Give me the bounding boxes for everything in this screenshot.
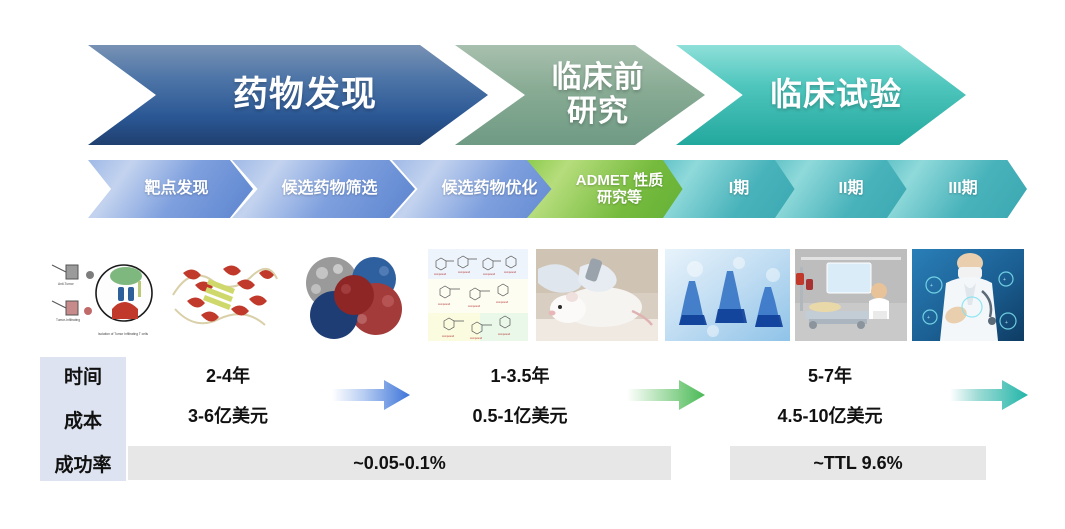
metric-time-clinical: 5-7年 <box>730 360 930 390</box>
stage-chip-label: II期 <box>839 180 864 198</box>
svg-text:Isolation of Tumor Infiltratin: Isolation of Tumor Infiltrating T cells <box>98 332 148 336</box>
stage-chip-label: 靶点发现 <box>144 180 208 198</box>
metric-cost-clinical: 4.5-10亿美元 <box>730 400 930 430</box>
stage-chip-phase-iii[interactable]: III期 <box>887 160 1027 218</box>
svg-text:compound: compound <box>434 272 447 276</box>
phase-arrow-clinical-trials[interactable]: 临床试验 <box>676 45 966 145</box>
svg-text:compound: compound <box>438 302 451 306</box>
image-lab-flasks-photo <box>665 249 790 341</box>
stage-chip-label: 候选药物筛选 <box>281 180 377 198</box>
svg-text:compound: compound <box>470 336 483 340</box>
svg-text:+: + <box>1005 320 1008 326</box>
metrics-row-label-cost: 成本 <box>40 402 126 436</box>
phase-label: 临床试验 <box>770 77 902 113</box>
phase-arrow-preclinical-research[interactable]: 临床前 研究 <box>455 45 705 145</box>
svg-text:+: + <box>930 283 933 289</box>
progress-arrow-blue <box>332 378 410 412</box>
phase-arrow-drug-discovery[interactable]: 药物发现 <box>88 45 488 145</box>
phase-label: 药物发现 <box>233 75 377 114</box>
stage-chip-label: ADMET 性质 研究等 <box>576 172 664 207</box>
svg-text:compound: compound <box>458 270 471 274</box>
image-target-discovery-diagram: Anti-Tumor Tumor-Infiltrating Isolation … <box>42 249 160 341</box>
phase-label: 临床前 研究 <box>552 61 645 128</box>
image-lab-mouse-photo <box>536 249 658 341</box>
svg-text:+: + <box>1003 277 1006 283</box>
image-doctor-digital-hud-photo: ++ ++ <box>912 249 1024 341</box>
svg-text:Anti-Tumor: Anti-Tumor <box>58 282 75 286</box>
svg-text:+: + <box>927 315 930 321</box>
stage-chip-candidate-screening[interactable]: 候选药物筛选 <box>232 160 415 218</box>
stage-chip-label: 候选药物优化 <box>441 180 537 198</box>
image-chemical-structures-chart: compoundcompound compoundcompound compou… <box>428 249 528 341</box>
metric-time-preclinical: 1-3.5年 <box>420 360 620 390</box>
progress-arrow-teal <box>950 378 1028 412</box>
svg-text:compound: compound <box>468 304 481 308</box>
svg-text:Tumor-Infiltrating: Tumor-Infiltrating <box>56 318 80 322</box>
progress-arrow-green <box>627 378 705 412</box>
image-hospital-bed-illustration <box>795 249 907 341</box>
stage-chip-target-discovery[interactable]: 靶点发现 <box>88 160 253 218</box>
success-rate-bar-clinical: ~TTL 9.6% <box>730 446 986 480</box>
svg-text:compound: compound <box>498 332 511 336</box>
image-protein-ribbon-structure <box>165 249 283 341</box>
svg-text:compound: compound <box>483 272 496 276</box>
pipeline-infographic: 药物发现 临床前 研究 临床试验 靶点发现 候选药物筛选 候选药物优化 ADME… <box>0 0 1065 529</box>
metric-time-drug-discovery: 2-4年 <box>128 360 328 390</box>
metric-cost-preclinical: 0.5-1亿美元 <box>420 400 620 430</box>
metric-cost-drug-discovery: 3-6亿美元 <box>128 400 328 430</box>
svg-text:compound: compound <box>442 334 455 338</box>
svg-text:compound: compound <box>504 270 517 274</box>
metrics-row-label-time: 时间 <box>40 358 126 392</box>
stage-chip-label: I期 <box>729 180 749 198</box>
metrics-row-label-success-rate: 成功率 <box>40 446 126 480</box>
image-space-filling-molecule-model <box>288 249 423 341</box>
stage-chip-label: III期 <box>948 180 977 198</box>
success-rate-bar-discovery-preclinical: ~0.05-0.1% <box>128 446 671 480</box>
svg-text:compound: compound <box>496 300 509 304</box>
